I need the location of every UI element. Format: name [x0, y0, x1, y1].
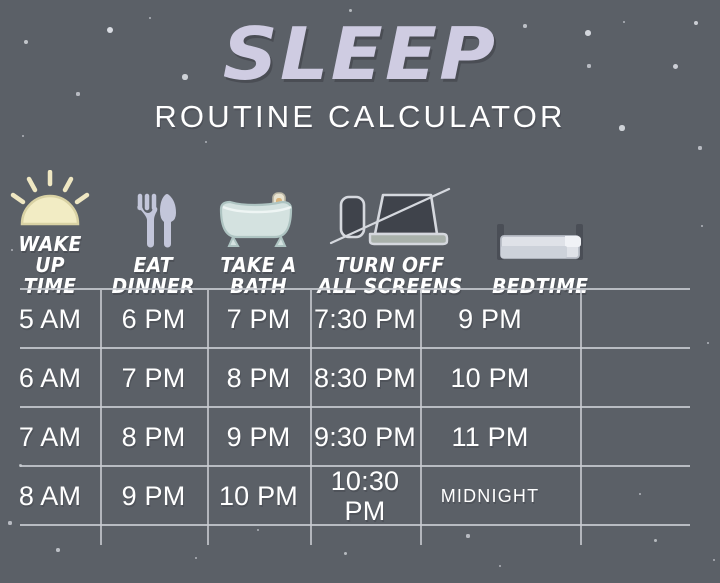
column-label: TURN OFF ALL SCREENS [318, 255, 463, 297]
table-cell: 8:30 PM [310, 363, 420, 393]
star-icon [195, 557, 198, 560]
fork-knife-icon [128, 187, 180, 249]
star-icon [713, 559, 716, 562]
column-label: EAT DINNER [112, 255, 195, 297]
table-row: 5 AM 6 PM 7 PM 7:30 PM 9 PM [0, 304, 720, 334]
page-title: SLEEP [0, 0, 720, 92]
table-row: 8 AM 9 PM 10 PM 10:30 PM MIDNIGHT [0, 481, 720, 511]
star-icon [499, 565, 502, 568]
title-block: SLEEP ROUTINE CALCULATOR [0, 0, 720, 133]
column-header-turn-off-all-screens: TURN OFF ALL SCREENS [310, 166, 470, 297]
table-cell: 9:30 PM [310, 422, 420, 452]
no-screens-icon [329, 187, 451, 249]
table-cell: 8 PM [100, 422, 207, 452]
table-cell: 8 AM [0, 481, 100, 511]
star-icon [257, 529, 259, 531]
column-header-bedtime: BEDTIME [470, 166, 610, 297]
table-cell: 11 PM [420, 422, 560, 452]
table-cell: 8 PM [207, 363, 310, 393]
table-cell: 6 PM [100, 304, 207, 334]
bed-icon [491, 208, 589, 270]
column-header-row: WAKE UP TIME EAT DINNER [0, 166, 720, 297]
table-rule [20, 288, 690, 290]
bathtub-icon [213, 187, 305, 249]
star-icon [22, 135, 25, 138]
column-label: TAKE A BATH [220, 255, 296, 297]
table-cell: 9 PM [207, 422, 310, 452]
sleep-routine-poster: SLEEP ROUTINE CALCULATOR WAKE UP TIME [0, 0, 720, 583]
table-cell: 7 PM [100, 363, 207, 393]
table-cell: 7 AM [0, 422, 100, 452]
table-cell: 7 PM [207, 304, 310, 334]
table-cell: 10:30 PM [310, 466, 420, 526]
star-icon [56, 548, 60, 552]
table-cell: 7:30 PM [310, 304, 420, 334]
column-header-take-a-bath: TAKE A BATH [207, 166, 310, 297]
column-header-wake-up-time: WAKE UP TIME [0, 166, 100, 297]
page-subtitle: ROUTINE CALCULATOR [0, 92, 720, 133]
table-cell: 10 PM [420, 363, 560, 393]
table-cell: 6 AM [0, 363, 100, 393]
sunrise-icon [8, 166, 92, 228]
column-header-eat-dinner: EAT DINNER [100, 166, 207, 297]
table-cell: 5 AM [0, 304, 100, 334]
star-icon [654, 539, 657, 542]
star-icon [205, 141, 207, 143]
table-rule [20, 406, 690, 408]
table-cell: MIDNIGHT [420, 481, 560, 511]
table-row: 7 AM 8 PM 9 PM 9:30 PM 11 PM [0, 422, 720, 452]
star-icon [344, 552, 347, 555]
table-rule [20, 347, 690, 349]
table-cell: 9 PM [420, 304, 560, 334]
star-icon [707, 342, 710, 345]
table-row: 6 AM 7 PM 8 PM 8:30 PM 10 PM [0, 363, 720, 393]
table-cell: 9 PM [100, 481, 207, 511]
star-icon [466, 534, 469, 537]
star-icon [8, 521, 11, 524]
table-cell: 10 PM [207, 481, 310, 511]
column-label: BEDTIME [492, 276, 588, 297]
star-icon [698, 146, 701, 149]
